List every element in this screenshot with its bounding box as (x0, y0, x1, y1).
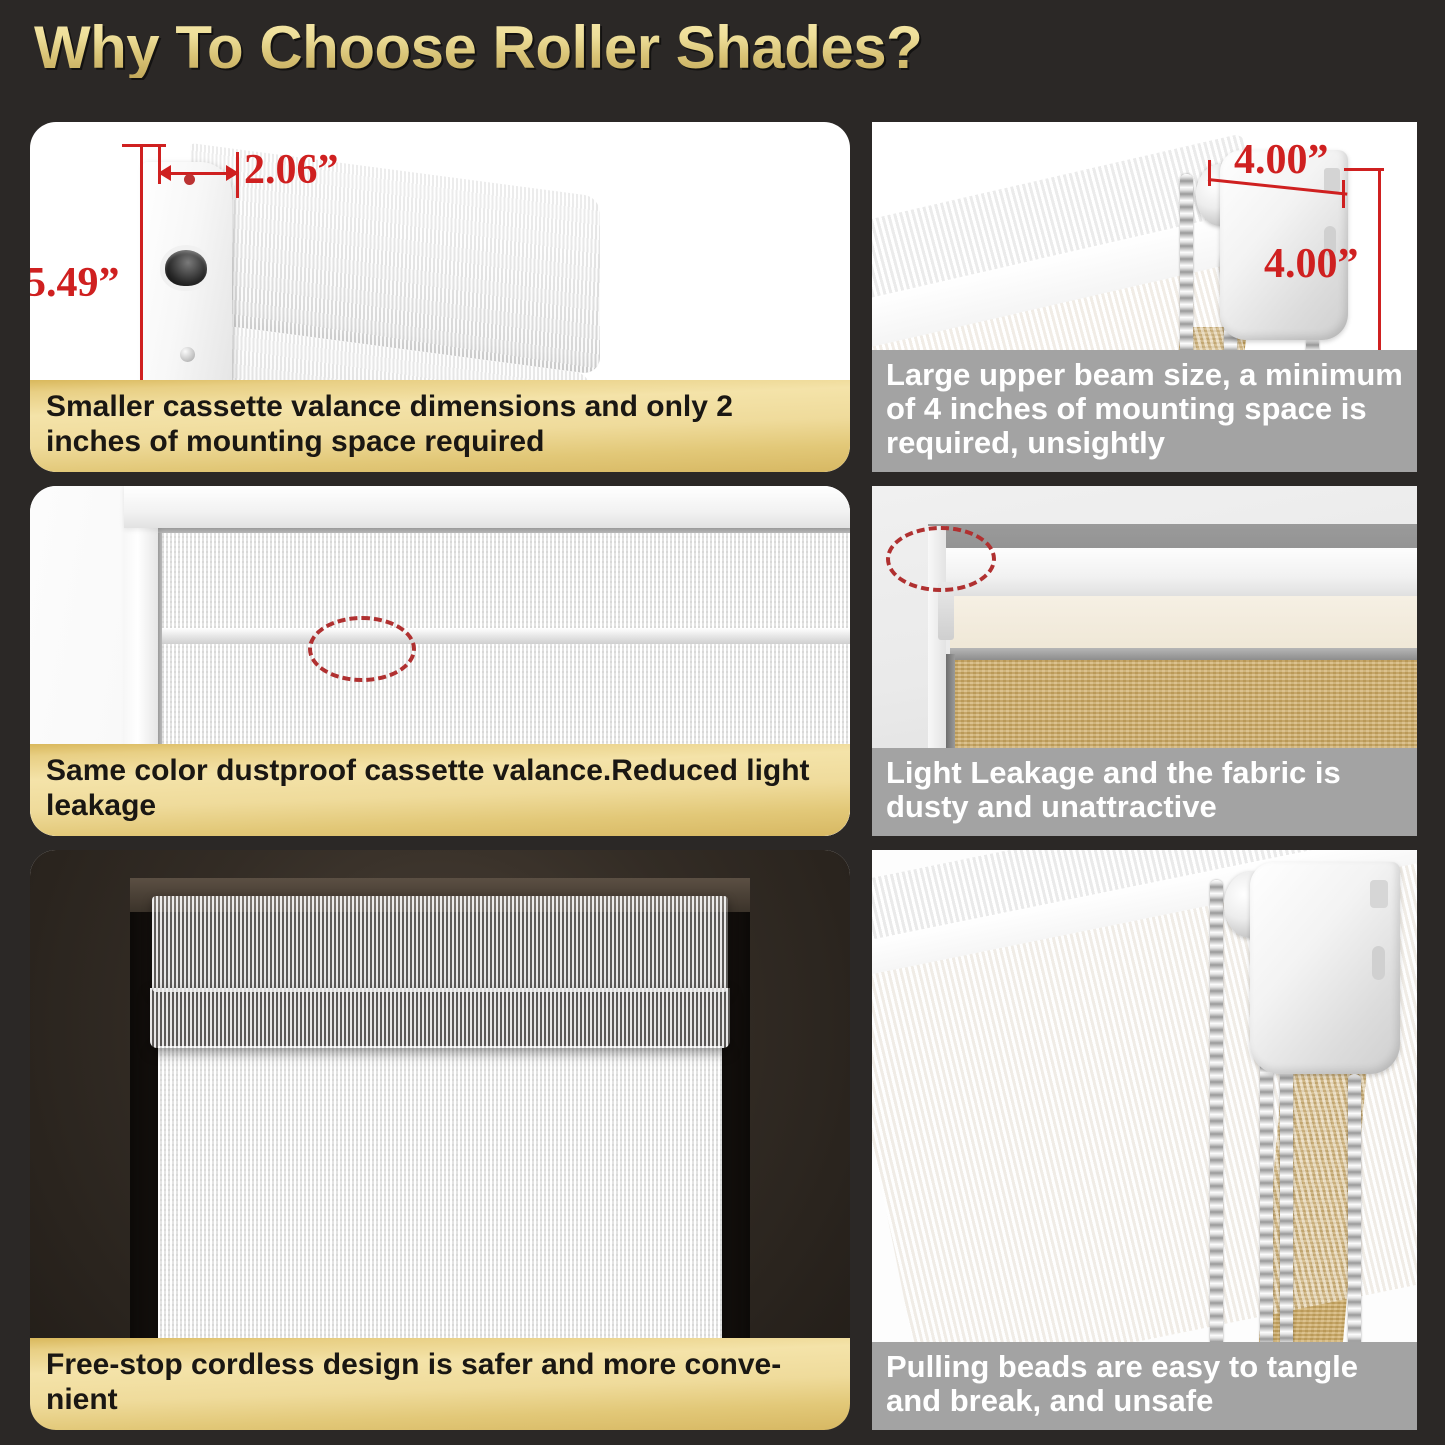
dim-width-arrow-right-icon (226, 165, 239, 181)
light-leak-highlight-ellipse (886, 526, 996, 592)
panel-dustproof-cassette: smaller gap Same color dustproof cassett… (30, 486, 850, 836)
roller-slot-icon (165, 250, 207, 286)
bracket-slot-icon (1372, 946, 1385, 980)
panel-3-caption: Same color dustproof cassette valance.Re… (30, 744, 850, 836)
panel-4-caption: Light Leakage and the fabric is dusty an… (872, 748, 1417, 836)
dimension-anchor-dot-icon (184, 174, 195, 185)
panel-large-upper-beam: 4.00” 4.00” Large upper beam size, a min… (872, 122, 1417, 472)
panel-smaller-cassette: 2.06” 5.49” Smaller cassette valance dim… (30, 122, 850, 472)
panel-5-caption: Free-stop cordless design is safer and m… (30, 1338, 850, 1430)
shade-mid-rail (156, 628, 850, 644)
light-leak-highlight-ellipse (308, 616, 416, 682)
mid-rail (950, 648, 1417, 660)
dimension-label-width: 2.06” (244, 146, 339, 194)
panel-cordless-design: Free-stop cordless design is safer and m… (30, 850, 850, 1430)
dimension-label-beam-width: 4.00” (1234, 136, 1329, 184)
cassette-valance-lip (150, 988, 730, 1048)
dim-height-top-tick (122, 144, 166, 147)
screw-icon (180, 347, 195, 362)
dimension-label-height: 5.49” (30, 259, 120, 307)
panel-light-leakage: Large gap Light Leakage and the fabric i… (872, 486, 1417, 836)
window-frame-header (124, 486, 850, 528)
shade-fabric-panel (158, 1046, 722, 1374)
comparison-grid: 2.06” 5.49” Smaller cassette valance dim… (0, 108, 1445, 1445)
panel-6-caption: Pulling beads are easy to tangle and bre… (872, 1342, 1417, 1430)
dim-top-left-tick (1208, 160, 1211, 186)
panel-1-caption: Smaller cassette valance dimensions and … (30, 380, 850, 472)
dim-side-line (1378, 168, 1381, 364)
header-bar: Why To Choose Roller Shades? (0, 0, 1445, 108)
bead-chain-left (1210, 880, 1223, 1410)
bracket-notch-icon (1370, 880, 1388, 908)
panel-pulling-beads: Pulling beads are easy to tangle and bre… (872, 850, 1417, 1430)
panel-2-caption: Large upper beam size, a minimum of 4 in… (872, 350, 1417, 472)
dim-width-arrow-left-icon (158, 165, 171, 181)
cassette-valance-box (152, 896, 728, 992)
fabric-upper-band (950, 596, 1417, 652)
page-title: Why To Choose Roller Shades? (34, 18, 1445, 78)
shade-upper-fabric (160, 533, 850, 631)
dimension-label-beam-depth: 4.00” (1264, 240, 1359, 288)
